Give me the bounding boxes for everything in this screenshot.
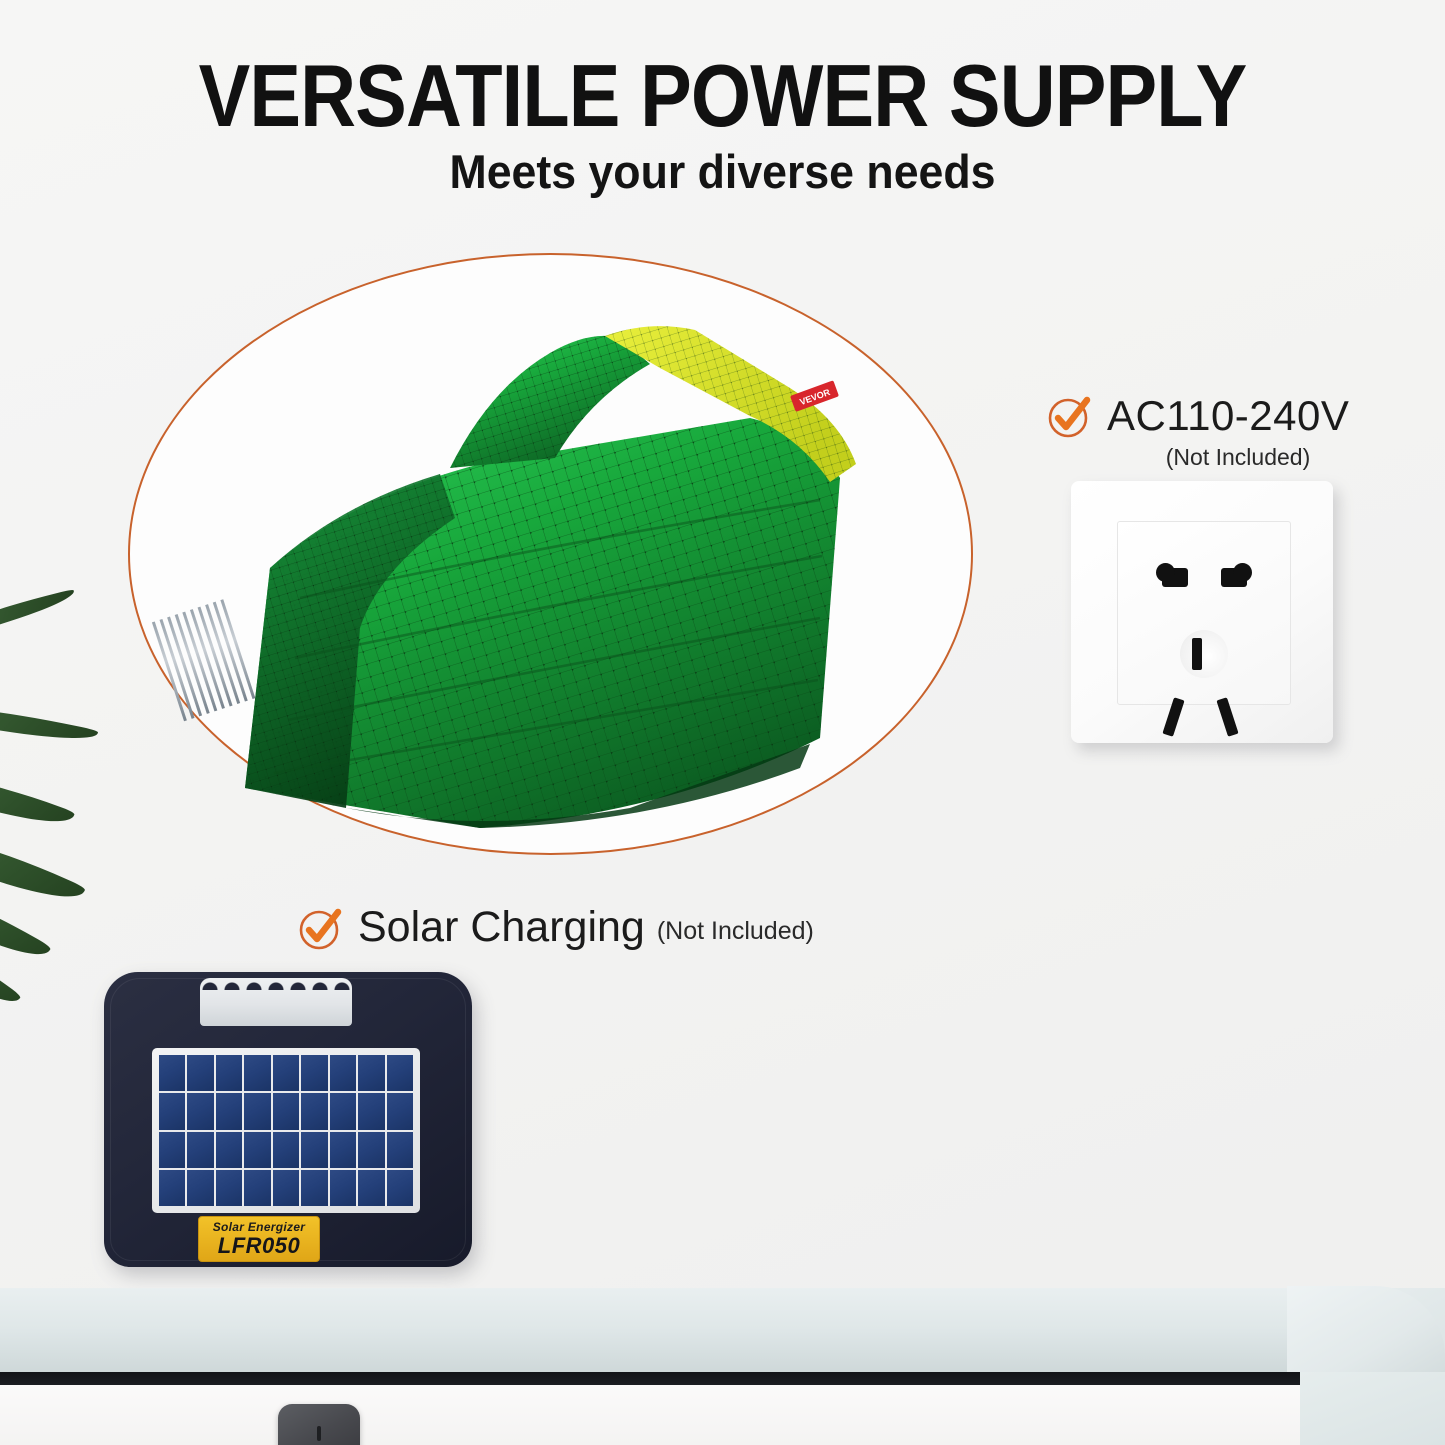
cabinet-front-face	[0, 1385, 1419, 1445]
check-circle-icon	[296, 904, 344, 952]
socket-ground-dimple	[1180, 630, 1228, 678]
wall-socket	[1071, 481, 1333, 743]
socket-slot-knob-left	[1156, 563, 1175, 582]
socket-slot-angled-right	[1216, 697, 1238, 737]
socket-slot-angled-left	[1162, 697, 1184, 737]
feature-ac-label: AC110-240V	[1107, 392, 1349, 440]
handle-grip-ridges	[200, 978, 352, 990]
cabinet-top-surface	[0, 1288, 1414, 1378]
product-feature-image: VERSATILE POWER SUPPLY Meets your divers…	[0, 0, 1445, 1445]
badge-model-text: LFR050	[199, 1234, 319, 1258]
solar-panel-frame	[152, 1048, 420, 1213]
feature-solar-label: Solar Charging	[358, 903, 645, 952]
product-image-netting: VEVOR	[150, 268, 950, 838]
knob-keyhole	[317, 1426, 321, 1441]
solar-panel-cells	[159, 1055, 413, 1206]
drawer-knob	[278, 1404, 360, 1445]
check-circle-icon	[1045, 392, 1093, 440]
badge-brand-text: Solar Energizer	[199, 1217, 319, 1234]
page-title: VERSATILE POWER SUPPLY	[87, 52, 1359, 140]
feature-ac-note: (Not Included)	[1045, 444, 1375, 471]
netting-illustration: VEVOR	[150, 268, 950, 838]
device-model-badge: Solar Energizer LFR050	[198, 1216, 320, 1262]
socket-slot-knob-right	[1233, 563, 1252, 582]
socket-inner-panel	[1117, 521, 1291, 705]
cabinet-shadow-gap	[0, 1372, 1419, 1385]
feature-ac-power: AC110-240V (Not Included)	[1045, 392, 1375, 471]
feature-solar-charging: Solar Charging (Not Included)	[296, 903, 814, 952]
feature-solar-note: (Not Included)	[657, 917, 814, 952]
socket-ground-pin	[1192, 638, 1202, 670]
page-subtitle: Meets your diverse needs	[36, 148, 1409, 195]
cabinet-side-face	[1300, 1372, 1445, 1445]
carry-handle	[200, 978, 352, 1026]
